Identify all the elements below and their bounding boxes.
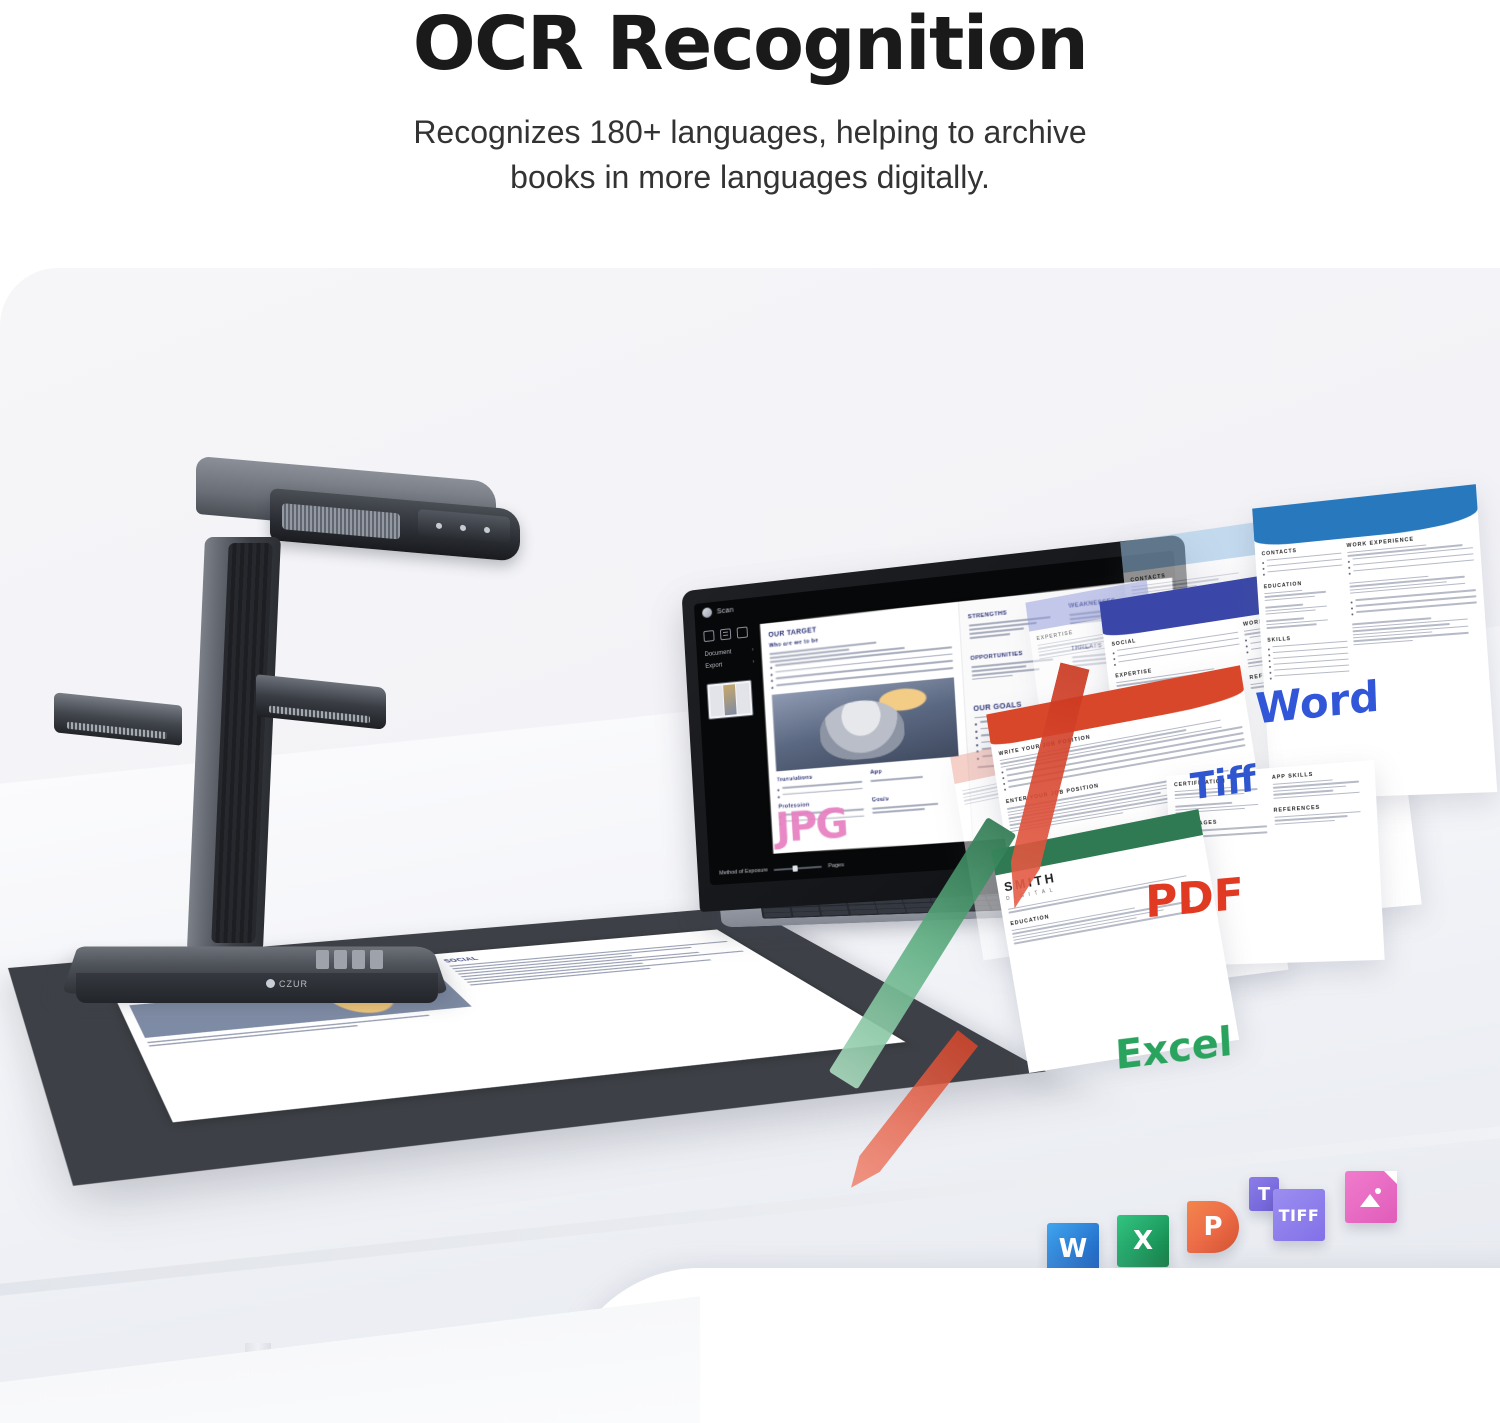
page-fold-icon-2 — [1384, 1171, 1397, 1184]
scanner-column-ribbing — [211, 543, 272, 943]
doc-subsec-app: App — [870, 762, 960, 793]
excel-file-icon[interactable]: X — [1117, 1215, 1169, 1267]
crop-icon[interactable] — [703, 630, 714, 642]
chevron-right-icon: › — [752, 647, 754, 653]
chevron-right-icon-2: › — [752, 659, 754, 665]
page-header: OCR Recognition Recognizes 180+ language… — [0, 0, 1500, 201]
scanner-indicator-3 — [484, 527, 490, 534]
sidebar-tool-icons[interactable] — [703, 626, 753, 642]
scanner-button-1[interactable] — [316, 950, 329, 969]
app-title: Scan — [717, 606, 734, 615]
sidebar-menu[interactable]: Document › Export › — [704, 647, 754, 670]
page-subtitle: Recognizes 180+ languages, helping to ar… — [0, 110, 1500, 201]
jpg-watermark: JPG — [774, 800, 847, 851]
powerpoint-file-icon[interactable]: P — [1187, 1201, 1239, 1253]
exposure-label: Method of Exposure — [719, 867, 768, 876]
page-title: OCR Recognition — [0, 6, 1500, 84]
scanner-button-2[interactable] — [334, 950, 347, 969]
doc-section-threats: THREATS — [1071, 636, 1169, 673]
doc-subsec-translations: Translations — [777, 770, 864, 800]
laptop: Scan Document › Export — [700, 590, 1260, 960]
document-scanner: CZUR — [70, 463, 570, 1023]
foreground-white-surface — [560, 1268, 1500, 1423]
scanner-brand-logo: CZUR — [266, 979, 308, 989]
doc-band — [1252, 484, 1478, 547]
thumbnail-col-1 — [709, 685, 723, 716]
thumbnail-col-image — [723, 684, 737, 715]
doc-section-strengths: STRENGTHS — [968, 604, 1062, 641]
thumbnail-col-2 — [736, 683, 750, 714]
doc-section-opportunities: OPPORTUNITIES — [970, 647, 1064, 683]
scanner-column — [187, 537, 281, 949]
doc-section-weaknesses: WEAKNESSES — [1068, 593, 1165, 631]
page-thumbnail[interactable] — [706, 680, 753, 720]
laptop-lid: Scan Document › Export — [681, 534, 1205, 912]
sidebar-item-document[interactable]: Document › — [704, 647, 753, 658]
scanner-control-panel[interactable] — [418, 509, 510, 543]
owl-photo — [772, 677, 958, 771]
document-preview[interactable]: OUR TARGET Who are we to be Translations — [760, 578, 1188, 854]
photo-glyph-icon — [1358, 1187, 1384, 1207]
scanner-buttons[interactable] — [316, 950, 383, 969]
auto-scan-label: Auto Scan — [1145, 773, 1166, 780]
exposure-slider[interactable] — [774, 866, 822, 871]
table-icon[interactable] — [720, 628, 731, 640]
sidebar-item-export-label: Export — [705, 662, 722, 670]
scanner-button-4[interactable] — [370, 950, 383, 969]
subtitle-line-2: books in more languages digitally. — [0, 155, 1500, 200]
file-format-icons: W X P T TIFF — [1025, 1163, 1405, 1283]
scanner-left-light-bar — [54, 692, 182, 745]
sidebar-item-export[interactable]: Export › — [705, 659, 754, 670]
scanner-base-front — [76, 973, 438, 1003]
document-page-left: OUR TARGET Who are we to be Translations — [760, 602, 972, 854]
tiff-file-icon[interactable]: TIFF — [1273, 1189, 1325, 1241]
scanner-vent — [282, 503, 400, 539]
scanner-indicator-2 — [460, 525, 466, 532]
edit-icon[interactable] — [737, 626, 748, 638]
product-scene: OUR TARGET SOCIAL — [0, 268, 1500, 1423]
scanner-indicator-1 — [436, 523, 442, 530]
image-file-icon[interactable] — [1345, 1171, 1397, 1223]
doc-subsec-goals: Goals — [872, 791, 962, 821]
sidebar-item-document-label: Document — [704, 649, 731, 658]
laptop-screen: Scan Document › Export — [694, 550, 1193, 885]
subtitle-line-1: Recognizes 180+ languages, helping to ar… — [0, 110, 1500, 155]
scanner-button-3[interactable] — [352, 950, 365, 969]
auto-scan-icon — [1146, 753, 1165, 772]
document-page-right: STRENGTHS WEAKNESSES OPPORTUNIT — [957, 578, 1188, 841]
app-logo-icon — [702, 607, 712, 618]
scanner-right-light-bar — [256, 674, 386, 730]
pages-label: Pages — [828, 862, 844, 869]
auto-scan-badge[interactable]: Auto Scan — [1135, 739, 1177, 794]
